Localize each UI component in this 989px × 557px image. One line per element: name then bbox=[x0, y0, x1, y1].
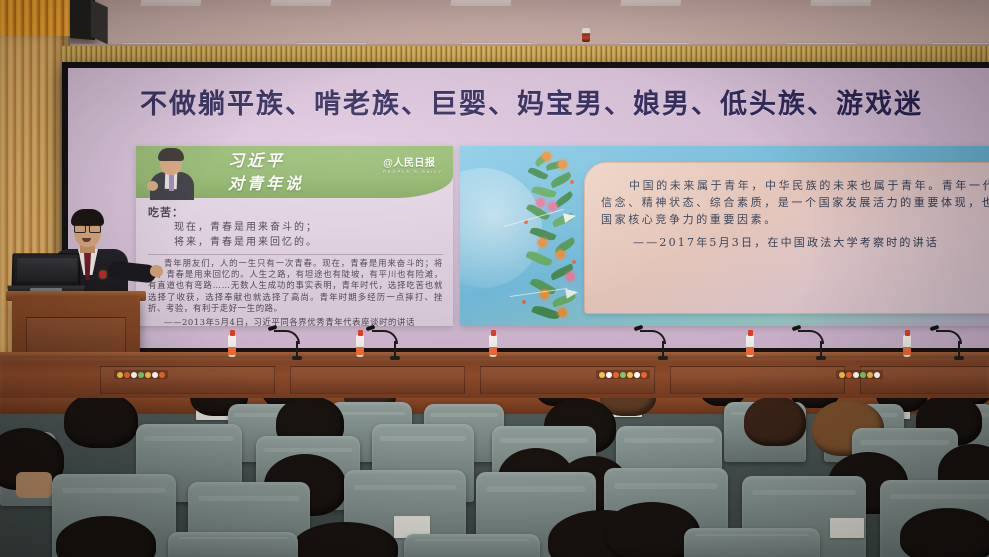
audience-seat bbox=[168, 532, 298, 557]
audience-seat bbox=[404, 534, 540, 557]
right-panel-source: ——2017年5月3日，在中国政法大学考察时的讲话 bbox=[585, 228, 989, 251]
publisher-logo-text: @人民日报 bbox=[383, 158, 435, 169]
water-bottle bbox=[228, 335, 236, 357]
left-panel-source: ——2013年5月4日，习近平同各界优秀青年代表座谈时的讲话 bbox=[148, 317, 443, 326]
eyeglasses-icon bbox=[74, 225, 101, 231]
lapel-pin-icon bbox=[100, 271, 106, 278]
divider bbox=[148, 254, 443, 255]
audience-head bbox=[900, 508, 989, 557]
gooseneck-microphone bbox=[394, 341, 396, 357]
water-bottle bbox=[356, 335, 364, 357]
gooseneck-microphone bbox=[958, 341, 960, 357]
slide-title: 不做躺平族、啃老族、巨婴、妈宝男、娘男、低头族、游戏迷 bbox=[68, 82, 989, 121]
decorative-medallions bbox=[836, 370, 883, 379]
publisher-logo-subtext: PEOPLE'S DAILY bbox=[383, 169, 443, 174]
audience-seating bbox=[0, 398, 989, 557]
left-panel-keyword: 吃苦： bbox=[148, 204, 443, 220]
publisher-logo: @人民日报 PEOPLE'S DAILY bbox=[383, 154, 443, 174]
right-panel-card: 中国的未来属于青年，中华民族的未来也属于青年。青年一代的理想信念、精神状态、综合… bbox=[584, 162, 989, 314]
slide-left-panel: 习近平 对青年说 @人民日报 PEOPLE'S DAILY 吃苦： 现在，青春是… bbox=[136, 146, 453, 326]
calligraphy-line-2: 对青年说 bbox=[228, 172, 368, 195]
left-panel-body: 吃苦： 现在，青春是用来奋斗的； 将来，青春是用来回忆的。 青年朋友们，人的一生… bbox=[136, 198, 453, 326]
floral-illustration bbox=[512, 150, 594, 326]
water-bottle bbox=[903, 335, 911, 357]
audience-head bbox=[744, 398, 806, 446]
decorative-medallions bbox=[596, 370, 650, 379]
calligraphy-line-1: 习近平 bbox=[228, 149, 368, 172]
gooseneck-microphone bbox=[820, 341, 822, 357]
right-panel-text: 中国的未来属于青年，中华民族的未来也属于青年。青年一代的理想信念、精神状态、综合… bbox=[585, 163, 989, 228]
gooseneck-microphone bbox=[662, 341, 664, 357]
smoke-detector-icon bbox=[582, 28, 590, 42]
decorative-medallions bbox=[114, 370, 168, 379]
left-panel-calligraphy: 习近平 对青年说 bbox=[228, 149, 368, 195]
audience-head bbox=[64, 398, 138, 448]
audience-seat bbox=[684, 528, 820, 557]
projection-screen: 不做躺平族、啃老族、巨婴、妈宝男、娘男、低头族、游戏迷 习近平 对青年说 @人民… bbox=[68, 68, 989, 348]
left-panel-quote-line-1: 现在，青春是用来奋斗的； bbox=[148, 221, 443, 235]
slide-right-panel: 中国的未来属于青年，中华民族的未来也属于青年。青年一代的理想信念、精神状态、综合… bbox=[460, 146, 989, 326]
water-bottle bbox=[489, 335, 497, 357]
left-panel-header: 习近平 对青年说 @人民日报 PEOPLE'S DAILY bbox=[136, 146, 453, 198]
water-bottle bbox=[746, 335, 754, 357]
lecture-hall-photo: 不做躺平族、啃老族、巨婴、妈宝男、娘男、低头族、游戏迷 习近平 对青年说 @人民… bbox=[0, 0, 989, 557]
gooseneck-microphone bbox=[296, 341, 298, 357]
portrait-illustration-icon bbox=[148, 148, 196, 198]
left-panel-paragraph: 青年朋友们，人的一生只有一次青春。现在，青春是用来奋斗的；将来，青春是用来回忆的… bbox=[148, 258, 443, 314]
left-panel-quote-line-2: 将来，青春是用来回忆的。 bbox=[148, 236, 443, 250]
